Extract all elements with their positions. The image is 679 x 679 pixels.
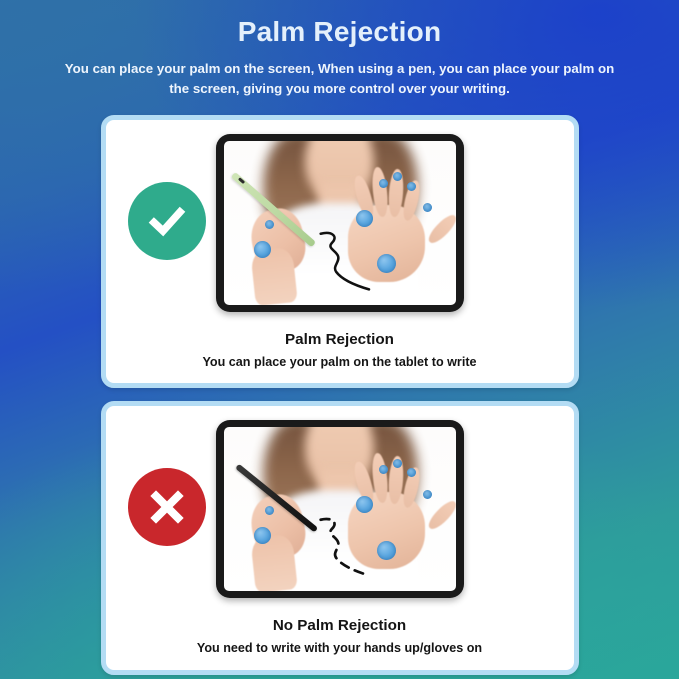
ink-stroke-dashed bbox=[224, 427, 456, 591]
tablet-device-1 bbox=[216, 134, 464, 312]
cross-icon bbox=[145, 485, 189, 529]
page-subtitle: You can place your palm on the screen, W… bbox=[60, 59, 620, 100]
card-caption: Palm Rejection You can place your palm o… bbox=[106, 330, 574, 383]
card-illustration bbox=[106, 406, 574, 616]
header: Palm Rejection You can place your palm o… bbox=[0, 0, 679, 100]
card-title: Palm Rejection bbox=[116, 330, 564, 349]
tablet-screen-1 bbox=[224, 141, 456, 305]
card-title: No Palm Rejection bbox=[116, 616, 564, 635]
card-subtitle: You can place your palm on the tablet to… bbox=[116, 354, 564, 370]
card-no-palm-rejection: No Palm Rejection You need to write with… bbox=[101, 401, 579, 674]
tablet-screen-2 bbox=[224, 427, 456, 591]
card-caption: No Palm Rejection You need to write with… bbox=[106, 616, 574, 669]
status-badge-check bbox=[128, 182, 206, 260]
feature-infographic: Palm Rejection You can place your palm o… bbox=[0, 0, 679, 679]
status-badge-cross bbox=[128, 468, 206, 546]
card-list: Palm Rejection You can place your palm o… bbox=[0, 115, 679, 675]
ink-stroke-solid bbox=[224, 141, 456, 305]
card-subtitle: You need to write with your hands up/glo… bbox=[116, 640, 564, 656]
card-illustration bbox=[106, 120, 574, 330]
check-icon bbox=[145, 199, 189, 243]
card-palm-rejection: Palm Rejection You can place your palm o… bbox=[101, 115, 579, 388]
page-title: Palm Rejection bbox=[0, 17, 679, 48]
tablet-device-2 bbox=[216, 420, 464, 598]
